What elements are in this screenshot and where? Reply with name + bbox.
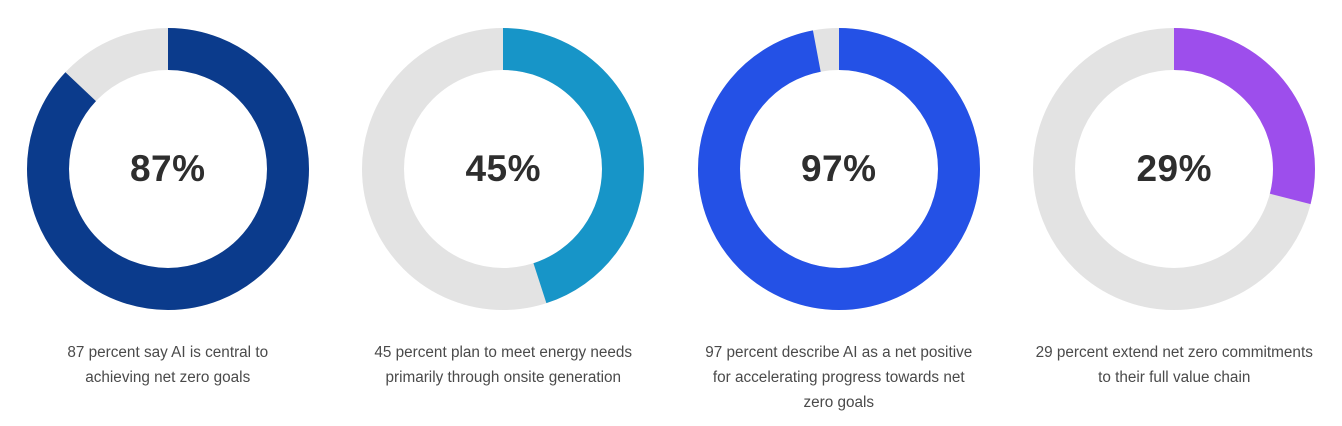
donut-value-label-1: 45% xyxy=(362,28,644,310)
donut-chart-1: 45% xyxy=(362,28,644,310)
donut-caption-3: 29 percent extend net zero commitments t… xyxy=(1028,341,1320,391)
donut-chart-card: 87% 87 percent say AI is central to achi… xyxy=(0,0,336,391)
donut-caption-1: 45 percent plan to meet energy needs pri… xyxy=(369,341,637,391)
donut-chart-3: 29% xyxy=(1033,28,1315,310)
donut-chart-card: 97% 97 percent describe AI as a net posi… xyxy=(671,0,1007,415)
donut-caption-0: 87 percent say AI is central to achievin… xyxy=(43,341,293,391)
donut-chart-2: 97% xyxy=(698,28,980,310)
donut-chart-0: 87% xyxy=(27,28,309,310)
donut-chart-row: 87% 87 percent say AI is central to achi… xyxy=(0,0,1342,426)
donut-caption-2: 97 percent describe AI as a net positive… xyxy=(700,341,978,415)
donut-chart-card: 29% 29 percent extend net zero commitmen… xyxy=(1007,0,1342,391)
donut-value-label-0: 87% xyxy=(27,28,309,310)
donut-chart-card: 45% 45 percent plan to meet energy needs… xyxy=(336,0,672,391)
donut-value-label-2: 97% xyxy=(698,28,980,310)
donut-value-label-3: 29% xyxy=(1033,28,1315,310)
